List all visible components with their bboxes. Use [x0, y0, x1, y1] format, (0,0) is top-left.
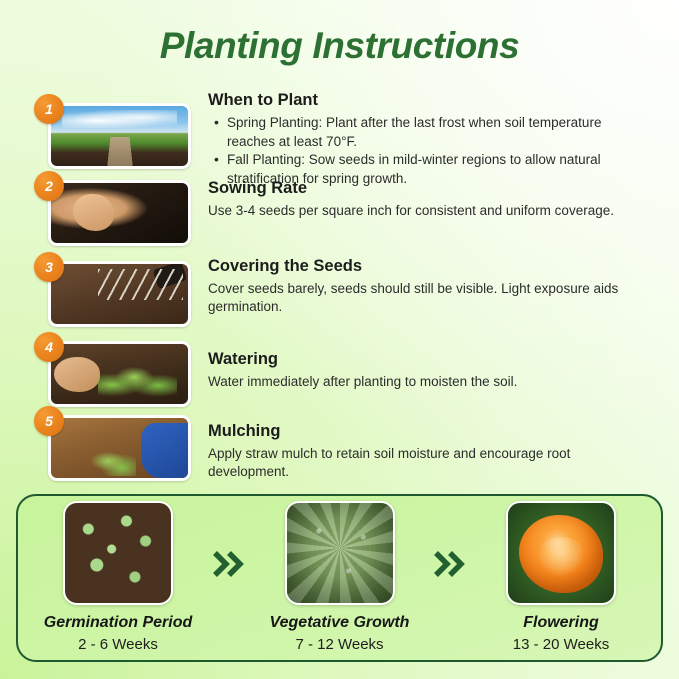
- hand-sowing-art: [51, 183, 188, 243]
- step-heading-3: Covering the Seeds: [208, 256, 653, 277]
- step-heading-1: When to Plant: [208, 90, 653, 111]
- field-rows-photo: [48, 103, 191, 169]
- step-text-5: Mulching Apply straw mulch to retain soi…: [208, 421, 653, 481]
- step-item-3: 3 Covering the Seeds Cover seeds barely,…: [0, 256, 679, 341]
- leafy-rosette-art: [287, 503, 393, 603]
- orange-flower-art: [508, 503, 614, 603]
- page-title: Planting Instructions: [0, 24, 679, 68]
- step-bullet: Spring Planting: Plant after the last fr…: [227, 114, 653, 151]
- rake-on-soil-art: [51, 264, 188, 324]
- step-thumb-wrap-4: 4: [48, 341, 191, 407]
- step-item-4: 4 Watering Water immediately after plant…: [0, 341, 679, 411]
- stage-weeks-vegetative: 7 - 12 Weeks: [256, 634, 424, 655]
- step-text-3: Covering the Seeds Cover seeds barely, s…: [208, 256, 653, 316]
- step-heading-5: Mulching: [208, 421, 653, 442]
- step-badge-2: 2: [34, 171, 64, 201]
- step-badge-4: 4: [34, 332, 64, 362]
- stage-name-vegetative: Vegetative Growth: [256, 613, 424, 633]
- watering-seedlings-photo: [48, 341, 191, 407]
- timeline-stage-germination: Germination Period 2 - 6 Weeks: [34, 501, 202, 655]
- step-thumb-wrap-1: 1: [48, 103, 191, 169]
- step-heading-2: Sowing Rate: [208, 178, 653, 199]
- mulching-hand-art: [51, 418, 188, 478]
- hand-sowing-seeds-photo: [48, 180, 191, 246]
- step-body-4: Water immediately after planting to mois…: [208, 373, 653, 391]
- step-body-3: Cover seeds barely, seeds should still b…: [208, 280, 653, 316]
- stage-name-flowering: Flowering: [477, 613, 645, 633]
- planting-instructions-poster: Planting Instructions 1 When to Plant Sp…: [0, 0, 679, 679]
- step-badge-1: 1: [34, 94, 64, 124]
- step-thumb-wrap-3: 3: [48, 261, 191, 327]
- step-thumb-wrap-5: 5: [48, 415, 191, 481]
- step-item-1: 1 When to Plant Spring Planting: Plant a…: [0, 90, 679, 178]
- step-body-2: Use 3-4 seeds per square inch for consis…: [208, 202, 653, 220]
- leafy-rosette-photo: [285, 501, 395, 605]
- chevron-right-icon-2: [428, 550, 472, 578]
- chevron-right-icon-1: [207, 550, 251, 578]
- step-heading-4: Watering: [208, 349, 653, 370]
- step-text-2: Sowing Rate Use 3-4 seeds per square inc…: [208, 178, 653, 220]
- stage-name-germination: Germination Period: [34, 613, 202, 633]
- stage-weeks-germination: 2 - 6 Weeks: [34, 634, 202, 655]
- rake-on-soil-photo: [48, 261, 191, 327]
- step-thumb-wrap-2: 2: [48, 180, 191, 246]
- mulching-hand-photo: [48, 415, 191, 481]
- step-item-5: 5 Mulching Apply straw mulch to retain s…: [0, 411, 679, 491]
- orange-flower-photo: [506, 501, 616, 605]
- stage-weeks-flowering: 13 - 20 Weeks: [477, 634, 645, 655]
- step-body-5: Apply straw mulch to retain soil moistur…: [208, 445, 653, 481]
- step-item-2: 2 Sowing Rate Use 3-4 seeds per square i…: [0, 178, 679, 256]
- step-text-1: When to Plant Spring Planting: Plant aft…: [208, 90, 653, 188]
- step-badge-5: 5: [34, 406, 64, 436]
- step-bullets-1: Spring Planting: Plant after the last fr…: [208, 114, 653, 188]
- timeline-stage-vegetative: Vegetative Growth 7 - 12 Weeks: [256, 501, 424, 655]
- seedlings-in-soil-photo: [63, 501, 173, 605]
- seedlings-in-soil-art: [65, 503, 171, 603]
- watering-seedlings-art: [51, 344, 188, 404]
- step-badge-3: 3: [34, 252, 64, 282]
- growth-timeline-panel: Germination Period 2 - 6 Weeks Vegetativ…: [16, 494, 663, 662]
- step-text-4: Watering Water immediately after plantin…: [208, 349, 653, 391]
- steps-list: 1 When to Plant Spring Planting: Plant a…: [0, 90, 679, 491]
- timeline-stage-flowering: Flowering 13 - 20 Weeks: [477, 501, 645, 655]
- field-rows-art: [51, 106, 188, 166]
